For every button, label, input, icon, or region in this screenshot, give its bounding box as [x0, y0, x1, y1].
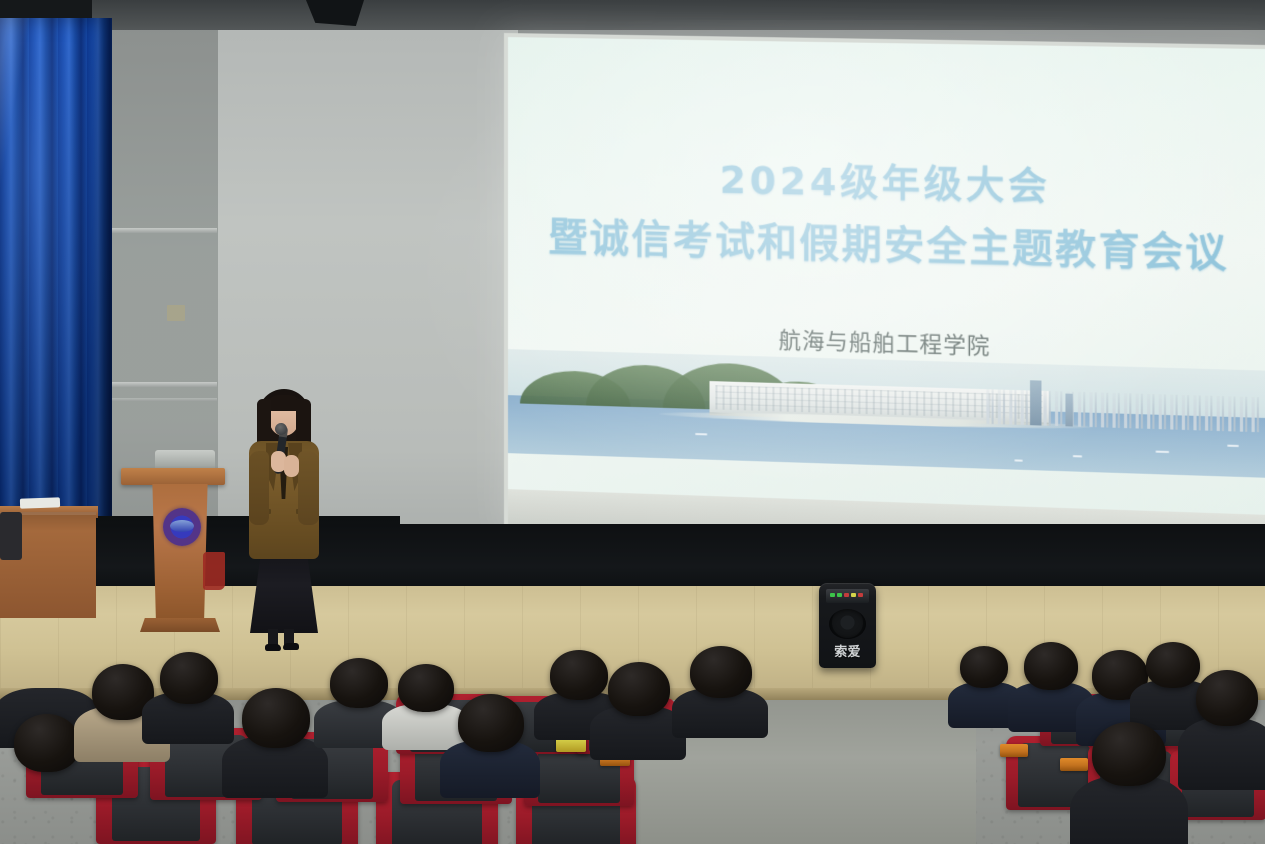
pa-led [858, 593, 863, 597]
seat-tablet-arm [1060, 758, 1088, 771]
pa-led [837, 593, 842, 597]
attendee-head [608, 662, 670, 716]
attendee-head [1196, 670, 1258, 726]
podium [150, 484, 210, 624]
attendee-head [160, 652, 218, 704]
pa-led [844, 593, 849, 597]
attendee-head [550, 650, 608, 700]
pa-speaker-cone-icon [829, 609, 866, 639]
red-object-behind-podium [203, 552, 225, 590]
university-crest-icon [163, 508, 201, 546]
presenter-arm-right [298, 451, 319, 525]
slide-title-line2: 暨诚信考试和假期安全主题教育会议 [508, 205, 1265, 280]
wall-trim-upper [95, 228, 217, 233]
attendee-head [960, 646, 1008, 688]
pa-led [830, 593, 835, 597]
attendee-shoulders [1178, 718, 1265, 790]
pa-control-panel [826, 589, 869, 603]
presenter [240, 389, 326, 651]
panorama-boat [1073, 455, 1082, 457]
seat-tablet-arm [556, 738, 586, 752]
panorama-tower [1065, 394, 1072, 427]
panorama-tower [1030, 380, 1041, 425]
attendee-shoulders [1070, 776, 1188, 844]
panorama-boat [695, 433, 707, 435]
bag-on-table [0, 512, 22, 560]
attendee-head [458, 694, 524, 752]
wall-marking [167, 305, 185, 321]
seat-tablet-arm [1000, 744, 1028, 757]
podium-base [140, 618, 220, 632]
attendee-head [242, 688, 310, 748]
audience-seating [0, 640, 1265, 844]
attendee-head [398, 664, 454, 712]
podium-top [121, 468, 225, 485]
panorama-boat [1227, 445, 1239, 447]
papers-on-table [20, 497, 60, 508]
attendee-head [14, 714, 80, 772]
attendee-head [330, 658, 388, 708]
presenter-skirt [250, 553, 318, 633]
panorama-boat [1156, 451, 1170, 453]
attendee-head [1092, 722, 1166, 786]
presenter-arm-left [249, 451, 269, 525]
attendee-head [1146, 642, 1200, 688]
laptop-on-podium [155, 450, 215, 469]
wall-trim-lower [95, 382, 217, 387]
attendee-head [1024, 642, 1078, 690]
slide-campus-panorama [508, 349, 1265, 478]
slide-title-line1: 2024级年级大会 [508, 145, 1265, 216]
presentation-slide: 2024级年级大会 暨诚信考试和假期安全主题教育会议 航海与船舶工程学院 202… [508, 37, 1265, 515]
pa-led [851, 593, 856, 597]
projection-screen: 2024级年级大会 暨诚信考试和假期安全主题教育会议 航海与船舶工程学院 202… [504, 33, 1265, 558]
wall-trim-lower-2 [95, 398, 217, 401]
presenter-hand-right [284, 455, 299, 477]
panorama-boat [1014, 459, 1022, 461]
auditorium-photo: 2024级年级大会 暨诚信考试和假期安全主题教育会议 航海与船舶工程学院 202… [0, 0, 1265, 844]
attendee-head [690, 646, 752, 698]
